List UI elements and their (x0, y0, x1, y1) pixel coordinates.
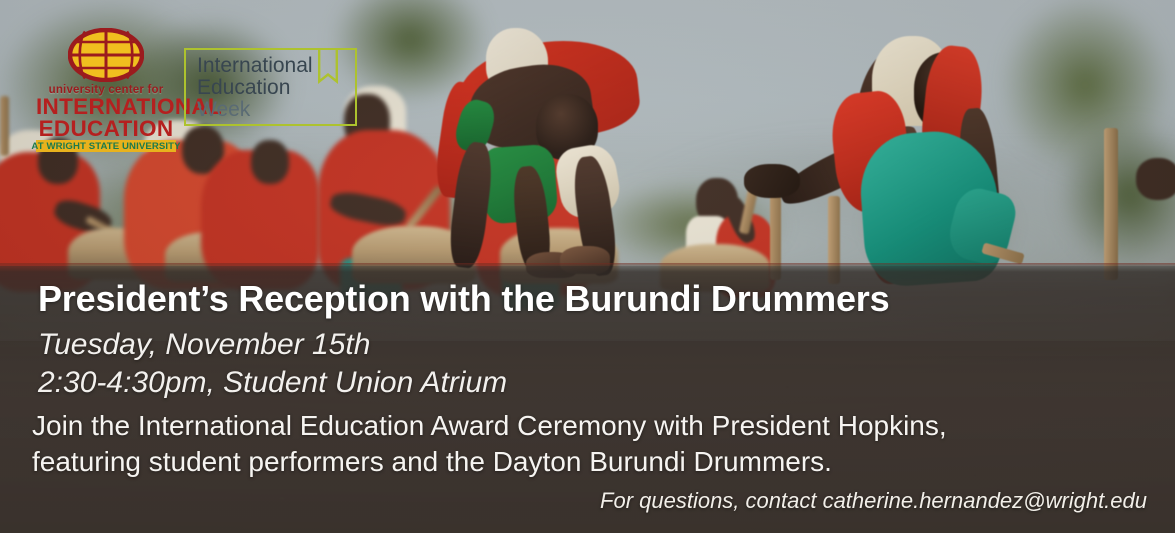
event-description-line-2: featuring student performers and the Day… (32, 446, 832, 478)
bookmark-ribbon-icon (318, 48, 338, 84)
wooden-pole (1104, 128, 1118, 280)
logo-tagline: AT WRIGHT STATE UNIVERSITY (31, 141, 180, 152)
event-contact: For questions, contact catherine.hernand… (600, 488, 1147, 514)
international-education-week-badge: International Education Week (184, 48, 357, 126)
foreground-dancer (408, 16, 728, 284)
event-poster: university center for INTERNATIONAL EDUC… (0, 0, 1175, 533)
foreground-dancer (766, 12, 1066, 284)
event-date: Tuesday, November 15th (38, 328, 370, 362)
drumstick (0, 96, 9, 156)
ucie-logo: university center for INTERNATIONAL EDUC… (36, 28, 176, 152)
globe-icon (36, 28, 176, 82)
badge-line-international: International (197, 55, 313, 77)
logo-line-education: EDUCATION (36, 118, 176, 140)
logo-line-international: INTERNATIONAL (36, 96, 176, 118)
hand (1136, 158, 1175, 200)
badge-line-education: Education (197, 77, 313, 99)
event-title: President’s Reception with the Burundi D… (38, 278, 889, 320)
event-time-location: 2:30-4:30pm, Student Union Atrium (38, 366, 507, 400)
badge-line-week: Week (197, 99, 313, 121)
event-description-line-1: Join the International Education Award C… (32, 410, 947, 442)
logo-tagline-bar: AT WRIGHT STATE UNIVERSITY (36, 140, 176, 152)
badge-text: International Education Week (197, 55, 313, 120)
event-text-block: President’s Reception with the Burundi D… (0, 266, 1175, 533)
